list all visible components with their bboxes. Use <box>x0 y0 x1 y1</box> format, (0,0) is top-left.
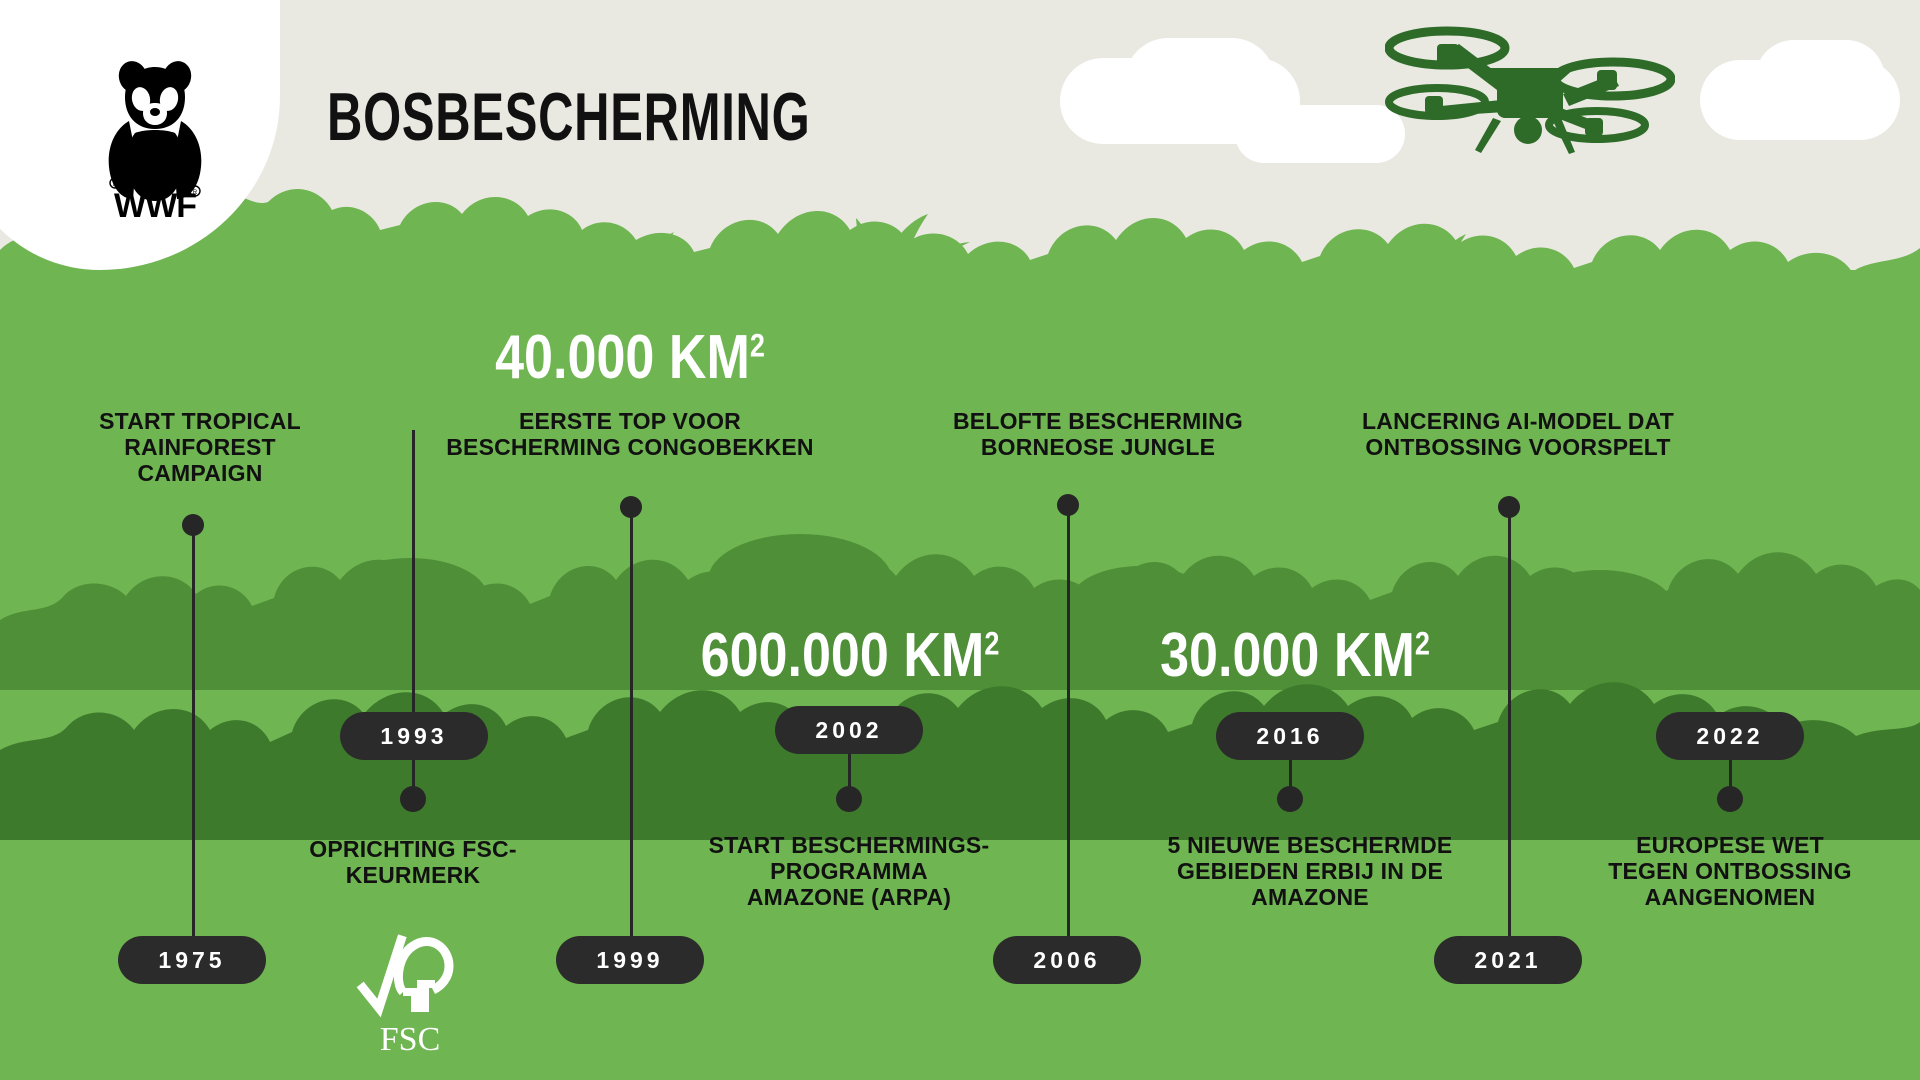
timeline-dot-1975 <box>182 514 204 536</box>
timeline-caption-2016: 5 NIEUWE BESCHERMDE GEBIEDEN ERBIJ IN DE… <box>1135 832 1485 911</box>
timeline-caption-1999: EERSTE TOP VOOR BESCHERMING CONGOBEKKEN <box>420 408 840 460</box>
page-title: BOSBESCHERMING <box>327 78 810 156</box>
cloud-5 <box>1755 40 1885 118</box>
stat-superscript: 2 <box>984 625 999 661</box>
timeline-stem-2021 <box>1508 506 1511 938</box>
infographic-canvas: R R WWF BOSBESCHERMING START TROPICAL RA… <box>0 0 1920 1080</box>
timeline-dot-1999 <box>620 496 642 518</box>
timeline-caption-2002: START BESCHERMINGS- PROGRAMMA AMAZONE (A… <box>694 832 1004 911</box>
timeline-dot-2021 <box>1498 496 1520 518</box>
timeline-stem-1975 <box>192 524 195 944</box>
timeline-stat-2002: 600.000 KM2 <box>674 620 1027 691</box>
timeline-stem-1993 <box>412 430 415 730</box>
timeline-dot-2022 <box>1717 786 1743 812</box>
timeline-year-1993[interactable]: 1993 <box>340 712 488 760</box>
timeline-dot-1993 <box>400 786 426 812</box>
drone-icon <box>1385 22 1675 162</box>
timeline-caption-1975: START TROPICAL RAINFOREST CAMPAIGN <box>45 408 355 487</box>
wwf-panda-logo: R R WWF <box>85 55 225 215</box>
fsc-label: FSC <box>380 1021 441 1055</box>
timeline-year-2016[interactable]: 2016 <box>1216 712 1364 760</box>
timeline-stem-2006 <box>1067 504 1070 938</box>
fsc-badge: FSC <box>355 930 465 1060</box>
stat-value: 30.000 KM <box>1160 621 1415 690</box>
timeline-dot-2016 <box>1277 786 1303 812</box>
timeline-dot-2002 <box>836 786 862 812</box>
timeline-stat-1999: 40.000 KM2 <box>454 322 807 393</box>
timeline-year-2022[interactable]: 2022 <box>1656 712 1804 760</box>
timeline-year-1975[interactable]: 1975 <box>118 936 266 984</box>
timeline-caption-2022: EUROPESE WET TEGEN ONTBOSSING AANGENOMEN <box>1575 832 1885 911</box>
timeline-caption-2021: LANCERING AI-MODEL DAT ONTBOSSING VOORSP… <box>1318 408 1718 460</box>
timeline-year-2021[interactable]: 2021 <box>1434 936 1582 984</box>
timeline-year-2006[interactable]: 2006 <box>993 936 1141 984</box>
stat-value: 40.000 KM <box>495 323 750 392</box>
timeline-year-2002[interactable]: 2002 <box>775 706 923 754</box>
timeline-stem-1999 <box>630 506 633 938</box>
stat-value: 600.000 KM <box>701 621 985 690</box>
timeline-year-1999[interactable]: 1999 <box>556 936 704 984</box>
timeline-dot-2006 <box>1057 494 1079 516</box>
svg-text:WWF: WWF <box>114 187 196 220</box>
stat-superscript: 2 <box>1415 625 1430 661</box>
timeline-stem-2002 <box>848 752 851 790</box>
stat-superscript: 2 <box>750 327 765 363</box>
timeline-caption-2006: BELOFTE BESCHERMING BORNEOSE JUNGLE <box>908 408 1288 460</box>
timeline-stat-2016: 30.000 KM2 <box>1119 620 1472 691</box>
timeline-caption-1993: OPRICHTING FSC- KEURMERK <box>258 836 568 888</box>
